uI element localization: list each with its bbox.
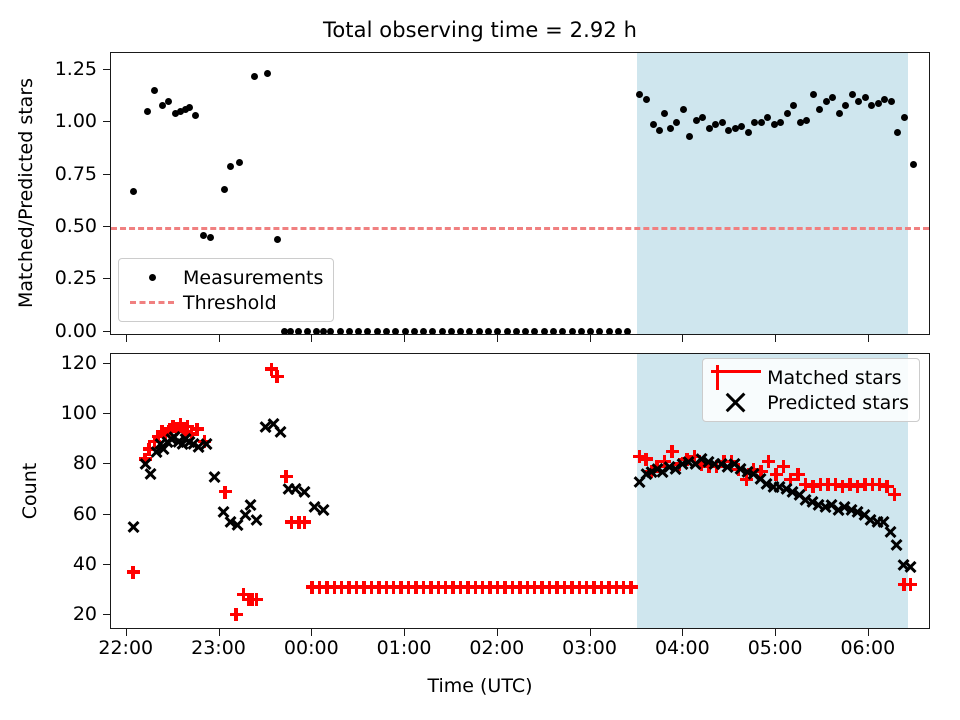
y-axis-tick <box>103 413 110 414</box>
x-axis-tick <box>868 629 869 636</box>
x-axis-tick <box>311 335 312 342</box>
data-point <box>236 159 243 166</box>
data-point <box>320 328 327 335</box>
top-panel-legend: Measurements Threshold <box>118 258 334 322</box>
y-axis-tick <box>103 363 110 364</box>
x-axis-tick-label: 03:00 <box>562 637 617 659</box>
y-axis-tick <box>103 278 110 279</box>
data-point <box>221 186 228 193</box>
y-axis-tick-label: 60 <box>0 503 97 525</box>
threshold-line-icon <box>127 290 177 315</box>
data-point <box>855 98 862 105</box>
data-point <box>355 328 362 335</box>
figure-title: Total observing time = 2.92 h <box>0 18 960 42</box>
data-point <box>680 106 687 113</box>
data-point <box>457 328 464 335</box>
data-point <box>165 98 172 105</box>
y-axis-tick <box>103 331 110 332</box>
data-point <box>699 114 706 121</box>
data-point <box>829 94 836 101</box>
data-point <box>144 108 151 115</box>
data-point <box>130 188 137 195</box>
x-axis-tick <box>682 335 683 342</box>
data-point <box>842 102 849 109</box>
legend-item-matched-stars: Matched stars <box>711 365 909 390</box>
data-point <box>738 123 745 130</box>
data-point <box>250 593 263 606</box>
data-point <box>327 328 334 335</box>
data-point <box>587 328 594 335</box>
data-point <box>890 538 904 552</box>
data-point <box>656 127 663 134</box>
data-point <box>151 87 158 94</box>
top-panel-y-axis-label: Matched/Predicted stars <box>15 78 37 308</box>
data-point <box>208 470 222 484</box>
y-axis-tick-label: 120 <box>0 352 97 374</box>
data-point <box>803 117 810 124</box>
data-point <box>550 328 557 335</box>
data-point <box>127 566 140 579</box>
data-point <box>667 125 674 132</box>
x-axis-tick <box>126 335 127 342</box>
threshold-line <box>111 227 929 230</box>
data-point <box>777 119 784 126</box>
data-point <box>636 91 643 98</box>
data-point <box>280 470 293 483</box>
x-axis-tick-label: 00:00 <box>284 637 339 659</box>
data-point <box>230 608 243 621</box>
x-axis-tick <box>590 629 591 636</box>
x-axis-tick <box>404 335 405 342</box>
x-axis-tick <box>219 629 220 636</box>
data-point <box>271 370 284 383</box>
y-axis-tick-label: 40 <box>0 553 97 575</box>
data-point <box>541 328 548 335</box>
data-point <box>901 114 908 121</box>
x-axis-tick <box>404 629 405 636</box>
data-point <box>836 110 843 117</box>
data-point <box>758 119 765 126</box>
x-axis-tick <box>590 335 591 342</box>
data-point <box>888 488 901 501</box>
data-point <box>264 70 271 77</box>
x-axis-tick <box>219 335 220 342</box>
x-axis-tick-label: 01:00 <box>377 637 432 659</box>
x-axis-tick <box>311 629 312 636</box>
y-axis-tick <box>103 174 110 175</box>
data-point <box>894 129 901 136</box>
data-point <box>762 455 775 468</box>
x-axis-tick-label: 22:00 <box>98 637 153 659</box>
data-point <box>374 328 381 335</box>
x-axis-label: Time (UTC) <box>0 675 960 697</box>
x-axis-tick <box>775 629 776 636</box>
data-point <box>126 520 140 534</box>
data-point <box>250 513 264 527</box>
data-point <box>650 121 657 128</box>
data-point <box>513 328 520 335</box>
data-point <box>777 460 790 473</box>
y-axis-tick <box>103 463 110 464</box>
y-axis-tick-label: 100 <box>0 402 97 424</box>
x-axis-tick-label: 04:00 <box>655 637 710 659</box>
data-point <box>494 328 501 335</box>
y-axis-tick <box>103 226 110 227</box>
data-point <box>244 498 258 512</box>
data-point <box>719 119 726 126</box>
data-point <box>849 91 856 98</box>
x-axis-tick-label: 02:00 <box>469 637 524 659</box>
data-point <box>904 578 917 591</box>
x-axis-tick <box>682 629 683 636</box>
data-point <box>666 445 679 458</box>
y-axis-tick-label: 0.00 <box>0 320 97 342</box>
data-point <box>522 328 529 335</box>
data-point <box>402 328 409 335</box>
data-point <box>615 328 622 335</box>
data-point <box>420 328 427 335</box>
data-point <box>673 119 680 126</box>
y-axis-tick <box>103 564 110 565</box>
legend-item-threshold: Threshold <box>127 290 323 315</box>
data-point <box>448 328 455 335</box>
x-axis-tick-label: 05:00 <box>748 637 803 659</box>
y-axis-tick <box>103 514 110 515</box>
y-axis-tick <box>103 69 110 70</box>
data-point <box>466 328 473 335</box>
data-point <box>606 328 613 335</box>
legend-item-measurements: Measurements <box>127 265 323 290</box>
data-point <box>485 328 492 335</box>
data-point <box>531 328 538 335</box>
y-axis-tick <box>103 614 110 615</box>
legend-label-measurements: Measurements <box>177 267 323 289</box>
data-point <box>411 328 418 335</box>
data-point <box>862 94 869 101</box>
y-axis-tick-label: 20 <box>0 603 97 625</box>
data-point <box>383 328 390 335</box>
legend-item-predicted-stars: Predicted stars <box>711 390 909 415</box>
y-axis-tick <box>103 121 110 122</box>
data-point <box>624 328 631 335</box>
predicted-stars-marker-icon <box>711 390 761 415</box>
legend-label-predicted-stars: Predicted stars <box>761 392 909 414</box>
measurements-marker-icon <box>127 265 177 290</box>
data-point <box>337 328 344 335</box>
figure-canvas: Total observing time = 2.92 h 0.000.250.… <box>0 0 960 720</box>
x-axis-tick <box>497 629 498 636</box>
legend-label-matched-stars: Matched stars <box>761 367 901 389</box>
data-point <box>207 234 214 241</box>
data-point <box>888 98 895 105</box>
data-point <box>144 467 158 481</box>
data-point <box>274 236 281 243</box>
data-point <box>625 581 638 594</box>
data-point <box>904 560 918 574</box>
data-point <box>392 328 399 335</box>
data-point <box>810 91 817 98</box>
bottom-panel-legend: Matched stars Predicted stars <box>702 358 920 422</box>
legend-label-threshold: Threshold <box>177 292 277 314</box>
data-point <box>686 133 693 140</box>
data-point <box>643 96 650 103</box>
data-point <box>578 328 585 335</box>
data-point <box>219 486 232 499</box>
x-axis-tick <box>126 629 127 636</box>
data-point <box>298 485 312 499</box>
matched-stars-marker-icon <box>711 365 761 390</box>
data-point <box>816 106 823 113</box>
data-point <box>298 516 311 529</box>
data-point <box>316 503 330 517</box>
data-point <box>346 328 353 335</box>
data-point <box>251 73 258 80</box>
data-point <box>504 328 511 335</box>
bottom-panel-y-axis-label: Count <box>19 463 41 519</box>
data-point <box>364 328 371 335</box>
data-point <box>764 114 771 121</box>
data-point <box>295 328 302 335</box>
data-point <box>596 328 603 335</box>
data-point <box>661 110 668 117</box>
data-point <box>569 328 576 335</box>
data-point <box>476 328 483 335</box>
data-point <box>192 112 199 119</box>
data-point <box>559 328 566 335</box>
data-point <box>304 328 311 335</box>
data-point <box>274 425 288 439</box>
x-axis-tick <box>868 335 869 342</box>
data-point <box>227 163 234 170</box>
data-point <box>429 328 436 335</box>
data-point <box>287 328 294 335</box>
data-point <box>745 129 752 136</box>
x-axis-tick <box>775 335 776 342</box>
data-point <box>186 104 193 111</box>
x-axis-tick-label: 06:00 <box>840 637 895 659</box>
data-point <box>790 102 797 109</box>
data-point <box>439 328 446 335</box>
y-axis-tick-label: 80 <box>0 452 97 474</box>
y-axis-tick-label: 1.25 <box>0 58 97 80</box>
x-axis-tick <box>497 335 498 342</box>
data-point <box>200 437 214 451</box>
x-axis-tick-label: 23:00 <box>191 637 246 659</box>
data-point <box>784 110 791 117</box>
data-point <box>910 161 917 168</box>
